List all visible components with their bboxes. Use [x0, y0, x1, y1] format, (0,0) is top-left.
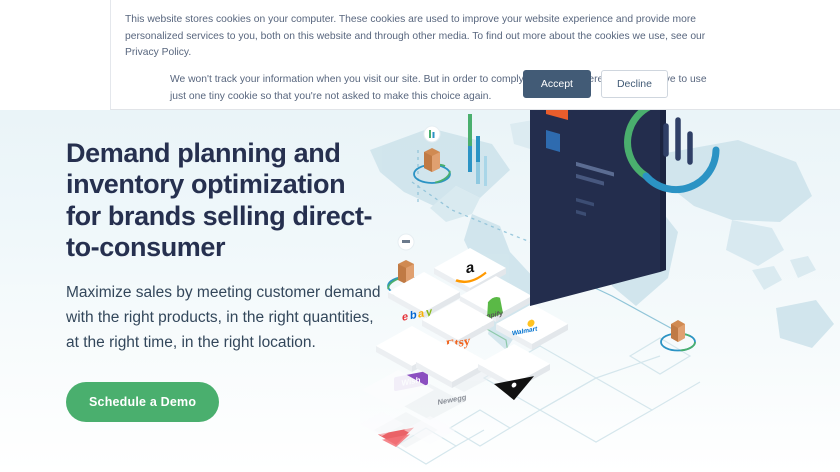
hero-illustration: a e b a y	[360, 110, 840, 472]
cookie-text-part-1: This website stores cookies on your comp…	[125, 14, 705, 42]
schedule-demo-button[interactable]: Schedule a Demo	[66, 382, 219, 422]
cookie-consent-banner: This website stores cookies on your comp…	[110, 0, 840, 110]
decline-cookies-button[interactable]: Decline	[601, 70, 668, 98]
hero-subtitle: Maximize sales by meeting customer deman…	[66, 280, 386, 355]
cookie-actions: Accept Decline	[523, 70, 668, 98]
accept-cookies-button[interactable]: Accept	[523, 70, 591, 98]
svg-text:b: b	[410, 309, 417, 322]
svg-text:a: a	[418, 307, 425, 320]
page-title: Demand planning and inventory optimizati…	[66, 138, 386, 263]
hero-section: a e b a y	[0, 110, 840, 472]
svg-text:a: a	[466, 259, 475, 278]
page-root: a e b a y	[0, 0, 840, 472]
cookie-paragraph-primary: This website stores cookies on your comp…	[125, 12, 711, 62]
cookie-banner-content: This website stores cookies on your comp…	[111, 0, 840, 109]
privacy-policy-link[interactable]: Privacy Policy	[125, 47, 188, 58]
cookie-text-part-2: .	[188, 47, 191, 58]
svg-text:e: e	[402, 311, 408, 324]
hero-copy: Demand planning and inventory optimizati…	[66, 138, 386, 422]
